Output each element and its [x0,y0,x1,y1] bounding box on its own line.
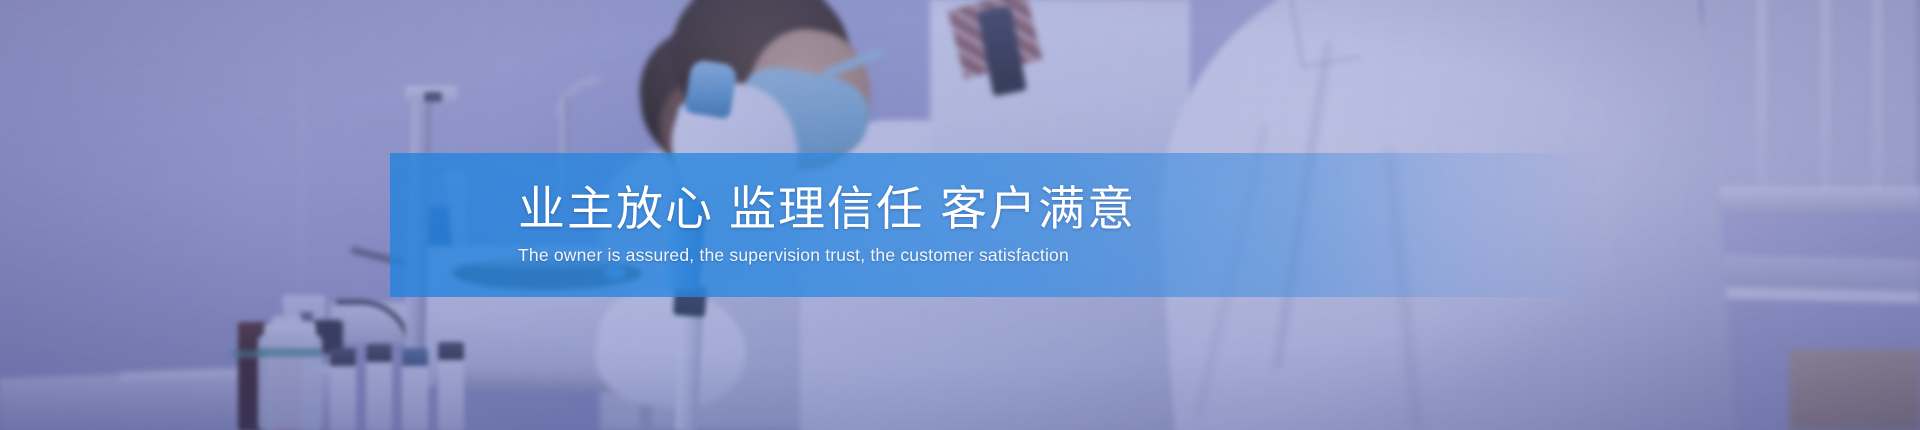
banner-title: 业主放心 监理信任 客户满意 [518,183,1595,236]
headline-band: 业主放心 监理信任 客户满意 The owner is assured, the… [390,153,1595,297]
hero-banner: 业主放心 监理信任 客户满意 The owner is assured, the… [0,0,1920,430]
headline-band-content: 业主放心 监理信任 客户满意 The owner is assured, the… [390,153,1595,297]
banner-subtitle: The owner is assured, the supervision tr… [518,244,1595,267]
